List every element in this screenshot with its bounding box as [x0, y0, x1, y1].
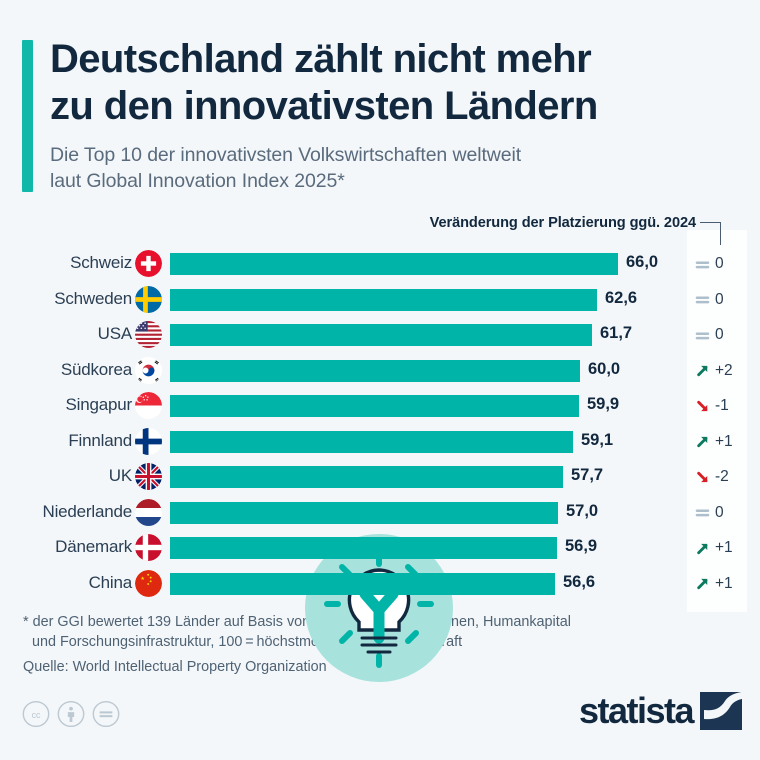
table-row: Dänemark 56,9 +1 [0, 531, 760, 567]
delta-cell: -1 [694, 393, 756, 419]
country-label: Schweiz [70, 253, 132, 273]
delta-cell: +1 [694, 429, 756, 455]
bar [170, 324, 592, 346]
subtitle-line-2: laut Global Innovation Index 2025* [50, 168, 740, 194]
country-label: Niederlande [43, 502, 132, 522]
accent-bar [22, 40, 33, 192]
flag-sweden-icon [135, 286, 162, 313]
bracket-line [700, 222, 721, 245]
flag-south-korea-icon [135, 357, 162, 384]
delta-label: +1 [715, 575, 733, 593]
table-row: Niederlande 57,0 0 [0, 496, 760, 532]
table-row: Südkorea 60,0 +2 [0, 354, 760, 390]
country-label: Dänemark [55, 537, 132, 557]
statista-logo-icon [700, 692, 742, 730]
arrow-down-right-icon [694, 469, 711, 486]
delta-label: -1 [715, 397, 729, 415]
flag-denmark-icon [135, 534, 162, 561]
delta-label: -2 [715, 468, 729, 486]
flag-finland-icon [135, 428, 162, 455]
bar-value-label: 66,0 [626, 253, 658, 272]
bar-value-label: 56,6 [563, 573, 595, 592]
delta-label: 0 [715, 255, 724, 273]
bar-chart: Veränderung der Platzierung ggü. 2024 Sc… [0, 212, 760, 604]
country-label: Südkorea [61, 360, 132, 380]
delta-label: +1 [715, 539, 733, 557]
delta-cell: 0 [694, 287, 756, 313]
table-row: UK 57,7 -2 [0, 460, 760, 496]
bar-value-label: 61,7 [600, 324, 632, 343]
table-row: Singapur 59,9 -1 [0, 389, 760, 425]
arrow-down-right-icon [694, 398, 711, 415]
bar [170, 573, 555, 595]
bar [170, 253, 618, 275]
table-row: China 56,6 +1 [0, 567, 760, 603]
flag-singapore-icon [135, 392, 162, 419]
footnote-line-2: und Forschungsinfrastruktur, 100 = höchs… [23, 632, 723, 652]
title-line-2: zu den innovativsten Ländern [50, 83, 740, 130]
flag-switzerland-icon [135, 250, 162, 277]
attribution-icon [57, 700, 85, 728]
table-row: USA 61,7 0 [0, 318, 760, 354]
arrow-up-right-icon [694, 540, 711, 557]
page-subtitle: Die Top 10 der innovativsten Volkswirtsc… [50, 142, 740, 194]
flag-uk-icon [135, 463, 162, 490]
flag-netherlands-icon [135, 499, 162, 526]
bar [170, 289, 597, 311]
title-line-1: Deutschland zählt nicht mehr [50, 36, 740, 83]
bar [170, 395, 579, 417]
delta-label: 0 [715, 504, 724, 522]
brand-name: statista [579, 693, 693, 729]
country-label: Finnland [68, 431, 132, 451]
delta-label: 0 [715, 291, 724, 309]
page-title: Deutschland zählt nicht mehr zu den inno… [50, 36, 740, 130]
infographic-footer: * der GGI bewertet 139 Länder auf Basis … [0, 604, 760, 760]
flag-usa-icon [135, 321, 162, 348]
table-row: Finnland 59,1 +1 [0, 425, 760, 461]
bar [170, 537, 557, 559]
delta-cell: +1 [694, 571, 756, 597]
delta-cell: -2 [694, 464, 756, 490]
delta-label: +1 [715, 433, 733, 451]
bar [170, 431, 573, 453]
statista-brand: statista [579, 692, 742, 730]
delta-cell: +2 [694, 358, 756, 384]
country-label: USA [98, 324, 132, 344]
table-row: Schweden 62,6 0 [0, 283, 760, 319]
flag-china-icon [135, 570, 162, 597]
country-label: Singapur [66, 395, 132, 415]
arrow-up-right-icon [694, 362, 711, 379]
footnote-line-1: * der GGI bewertet 139 Länder auf Basis … [23, 612, 723, 632]
bar [170, 466, 563, 488]
equals-icon [694, 327, 711, 344]
bar-value-label: 59,9 [587, 395, 619, 414]
delta-cell: 0 [694, 500, 756, 526]
bar [170, 360, 580, 382]
delta-label: 0 [715, 326, 724, 344]
creative-commons-icon: cc [22, 700, 50, 728]
table-row: Schweiz 66,0 0 [0, 247, 760, 283]
license-icons: cc [22, 700, 120, 728]
delta-column-header: Veränderung der Platzierung ggü. 2024 [430, 215, 696, 231]
delta-cell: 0 [694, 322, 756, 348]
source-label: Quelle: World Intellectual Property Orga… [23, 659, 327, 675]
arrow-up-right-icon [694, 433, 711, 450]
country-label: UK [109, 466, 132, 486]
no-derivatives-icon [92, 700, 120, 728]
subtitle-line-1: Die Top 10 der innovativsten Volkswirtsc… [50, 142, 740, 168]
country-label: Schweden [54, 289, 132, 309]
equals-icon [694, 256, 711, 273]
delta-cell: +1 [694, 535, 756, 561]
delta-cell: 0 [694, 251, 756, 277]
bar-value-label: 57,7 [571, 466, 603, 485]
delta-label: +2 [715, 362, 733, 380]
bar-value-label: 62,6 [605, 289, 637, 308]
bar-value-label: 59,1 [581, 431, 613, 450]
country-label: China [89, 573, 132, 593]
footnote: * der GGI bewertet 139 Länder auf Basis … [23, 612, 723, 652]
svg-text:cc: cc [32, 710, 41, 720]
arrow-up-right-icon [694, 575, 711, 592]
bar-value-label: 60,0 [588, 360, 620, 379]
infographic-header: Deutschland zählt nicht mehr zu den inno… [0, 0, 760, 212]
bar [170, 502, 558, 524]
bar-value-label: 56,9 [565, 537, 597, 556]
equals-icon [694, 291, 711, 308]
bar-value-label: 57,0 [566, 502, 598, 521]
equals-icon [694, 504, 711, 521]
